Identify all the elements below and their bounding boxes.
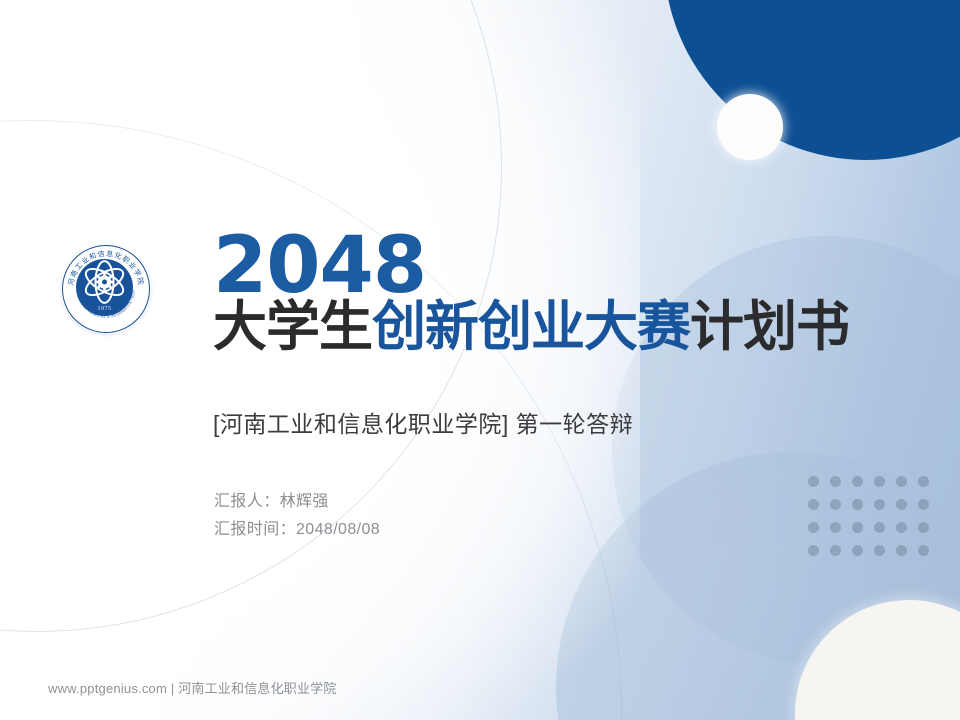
grid-dot (830, 522, 841, 533)
decor-white-dot (717, 94, 783, 160)
grid-dot (852, 522, 863, 533)
grid-dot (808, 499, 819, 510)
year-heading: 2048 (213, 228, 933, 304)
grid-dot (808, 522, 819, 533)
grid-dot (918, 545, 929, 556)
presenter-meta: 汇报人：林辉强 汇报时间：2048/08/08 (214, 488, 380, 544)
grid-dot (896, 499, 907, 510)
grid-dot (918, 522, 929, 533)
university-logo: 河南工业和信息化职业学院 HENAN COLLEGE OF INDUSTRY &… (48, 231, 162, 345)
grid-dot (874, 522, 885, 533)
grid-dot (830, 476, 841, 487)
presenter-name-line: 汇报人：林辉强 (214, 488, 380, 516)
title-segment-blue: 创新创业大赛 (372, 295, 690, 358)
grid-dot (874, 545, 885, 556)
grid-dot (896, 522, 907, 533)
grid-dot (852, 545, 863, 556)
logo-disc: 河南工业和信息化职业学院 HENAN COLLEGE OF INDUSTRY &… (62, 245, 150, 333)
grid-dot (830, 545, 841, 556)
presentation-date-line: 汇报时间：2048/08/08 (214, 516, 380, 544)
decor-dot-grid (808, 476, 940, 568)
grid-dot (896, 476, 907, 487)
footer-credit: www.pptgenius.com | 河南工业和信息化职业学院 (48, 678, 337, 697)
grid-dot (830, 499, 841, 510)
grid-dot (918, 476, 929, 487)
page-title: 大学生创新创业大赛计划书 (213, 298, 933, 356)
grid-dot (852, 476, 863, 487)
grid-dot (874, 499, 885, 510)
title-segment-dark-trailing: 计划书 (690, 295, 849, 358)
logo-established-year: 1975 (76, 306, 133, 312)
grid-dot (918, 499, 929, 510)
headline-block: 2048 大学生创新创业大赛计划书 (213, 228, 933, 357)
grid-dot (896, 545, 907, 556)
subtitle: [河南工业和信息化职业学院] 第一轮答辩 (213, 405, 633, 439)
title-segment-dark-leading: 大学生 (213, 295, 372, 358)
grid-dot (808, 545, 819, 556)
grid-dot (808, 476, 819, 487)
atom-icon (76, 257, 133, 307)
grid-dot (874, 476, 885, 487)
presentation-slide: 河南工业和信息化职业学院 HENAN COLLEGE OF INDUSTRY &… (0, 0, 960, 720)
grid-dot (852, 499, 863, 510)
